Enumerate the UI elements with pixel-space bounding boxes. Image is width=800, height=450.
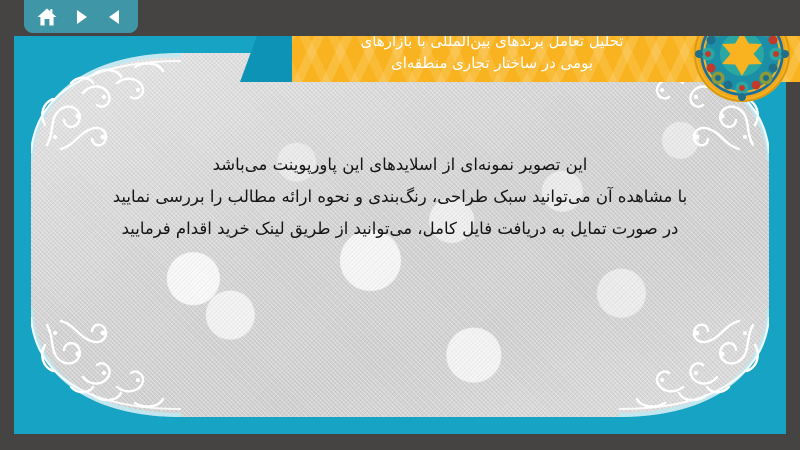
triangle-left-icon — [105, 7, 125, 27]
body-line-3: در صورت تمایل به دریافت فایل کامل، می‌تو… — [65, 213, 735, 245]
slide-body-text: این تصویر نمونه‌ای از اسلایدهای این پاور… — [31, 149, 769, 246]
arabesque-corner-ornament — [31, 53, 181, 163]
home-button[interactable] — [34, 5, 60, 29]
body-line-2: با مشاهده آن می‌توانید سبک طراحی، رنگ‌بن… — [65, 181, 735, 213]
navigation-bar — [0, 0, 800, 36]
triangle-right-icon — [71, 7, 91, 27]
body-line-1: این تصویر نمونه‌ای از اسلایدهای این پاور… — [65, 149, 735, 181]
title-line-2: بومی در ساختار تجاری منطقه‌ای — [391, 52, 593, 75]
slide-content-area: این تصویر نمونه‌ای از اسلایدهای این پاور… — [31, 53, 769, 417]
arabesque-corner-ornament — [31, 307, 181, 417]
home-icon — [36, 7, 58, 27]
previous-button[interactable] — [102, 5, 128, 29]
nav-button-group — [24, 0, 138, 33]
next-button[interactable] — [68, 5, 94, 29]
arabesque-corner-ornament — [619, 307, 769, 417]
slide-canvas[interactable]: این تصویر نمونه‌ای از اسلایدهای این پاور… — [14, 36, 786, 434]
